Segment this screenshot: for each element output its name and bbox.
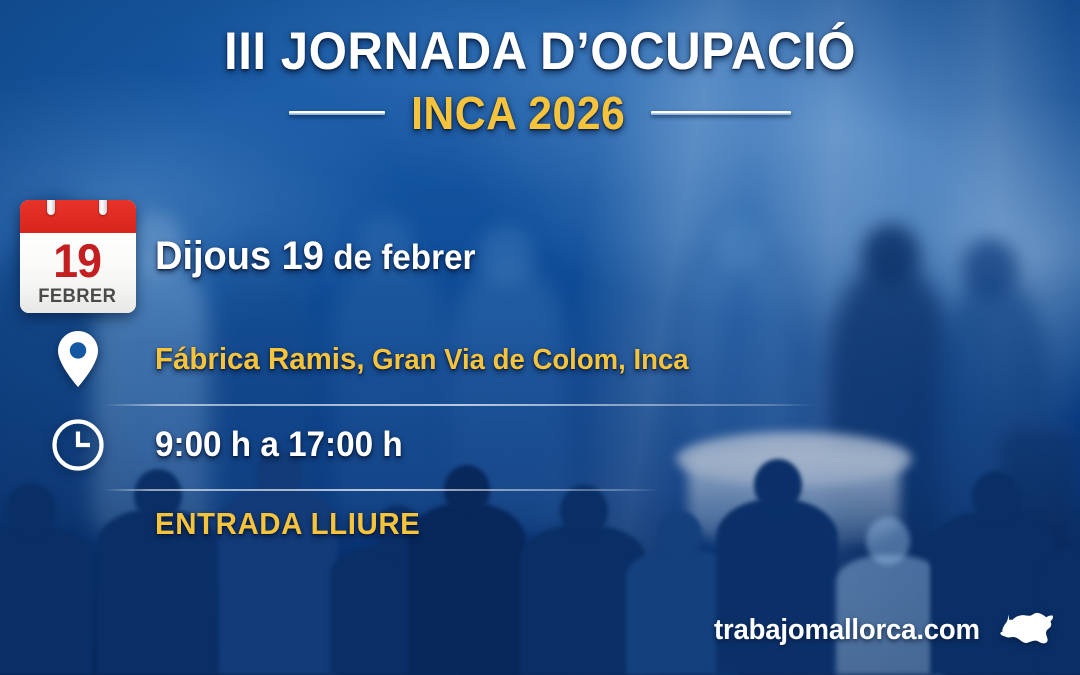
- event-details: 19 FEBRER Dijous 19 de febrer Fábrica Ra…: [0, 196, 1080, 560]
- date-text: Dijous 19 de febrer: [155, 234, 475, 279]
- detail-row-time: 9:00 h a 17:00 h: [0, 402, 1080, 488]
- date-icon-cell: 19 FEBRER: [0, 200, 155, 313]
- map-pin-icon: [58, 331, 98, 387]
- location-text: Fábrica Ramis, Gran Via de Colom, Inca: [155, 341, 689, 377]
- admission-text: ENTRADA LLIURE: [155, 506, 420, 542]
- website-url[interactable]: trabajomallorca.com: [714, 614, 980, 647]
- subtitle-row: INCA 2026: [0, 86, 1080, 140]
- detail-row-date: 19 FEBRER Dijous 19 de febrer: [0, 196, 1080, 316]
- title-block: III JORNADA D’OCUPACIÓ INCA 2026: [0, 24, 1080, 140]
- time-text: 9:00 h a 17:00 h: [155, 425, 403, 465]
- event-poster: III JORNADA D’OCUPACIÓ INCA 2026 19 FEBR…: [0, 0, 1080, 675]
- date-weekday-day: Dijous 19: [155, 234, 324, 278]
- calendar-icon: 19 FEBRER: [20, 200, 136, 313]
- detail-row-location: Fábrica Ramis, Gran Via de Colom, Inca: [0, 316, 1080, 402]
- footer-branding: trabajomallorca.com: [707, 609, 1054, 651]
- divider-line: [104, 404, 816, 406]
- calendar-ring-icon: [99, 200, 107, 215]
- time-icon-cell: [0, 418, 155, 472]
- location-address: Gran Via de Colom, Inca: [365, 344, 689, 376]
- detail-row-admission: ENTRADA LLIURE: [0, 488, 1080, 560]
- clock-icon: [51, 418, 105, 472]
- calendar-day: 19: [54, 239, 102, 282]
- calendar-month: FEBRER: [38, 287, 116, 306]
- decorative-rule-right-icon: [651, 111, 791, 115]
- mallorca-island-icon: [1000, 609, 1054, 651]
- page-title: III JORNADA D’OCUPACIÓ: [38, 24, 1042, 79]
- page-subtitle: INCA 2026: [411, 86, 625, 140]
- location-icon-cell: [0, 331, 155, 387]
- divider-line: [104, 489, 660, 491]
- calendar-body: 19 FEBRER: [20, 233, 136, 313]
- calendar-ring-icon: [47, 200, 55, 215]
- calendar-header: [20, 200, 136, 233]
- location-venue: Fábrica Ramis,: [155, 341, 365, 376]
- decorative-rule-left-icon: [289, 111, 385, 115]
- date-month-suffix: de febrer: [324, 238, 476, 277]
